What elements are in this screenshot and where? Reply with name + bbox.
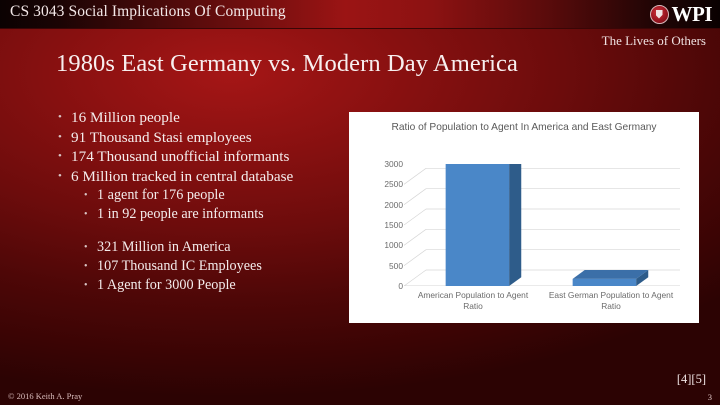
- slide-header-bar: CS 3043 Social Implications Of Computing…: [0, 0, 720, 29]
- wpi-logo: WPI: [650, 2, 713, 26]
- chart-bars: [404, 164, 680, 286]
- copyright-notice: © 2016 Keith A. Pray: [8, 391, 82, 401]
- list-item-label: 1 in 92 people are informants: [97, 205, 343, 224]
- y-axis-tick-label: 2000: [384, 200, 403, 210]
- slide-subtitle: The Lives of Others: [602, 33, 706, 49]
- list-spacer: [58, 224, 343, 238]
- bullet-list: • 16 Million people • 91 Thousand Stasi …: [58, 108, 343, 295]
- bullet-dot-icon: •: [58, 147, 71, 167]
- list-item: • 6 Million tracked in central database: [58, 167, 343, 187]
- chart-plot-area: [404, 164, 680, 286]
- wpi-logo-text: WPI: [672, 4, 713, 25]
- chart-panel: Ratio of Population to Agent In America …: [349, 112, 699, 323]
- list-item-label: 321 Million in America: [97, 238, 343, 257]
- bullet-dot-icon: •: [58, 128, 71, 148]
- list-item-label: 91 Thousand Stasi employees: [71, 128, 343, 148]
- list-item: • 321 Million in America: [58, 238, 343, 257]
- list-item: • 1 Agent for 3000 People: [58, 276, 343, 295]
- wpi-seal-icon: [650, 5, 669, 24]
- list-item-label: 1 Agent for 3000 People: [97, 276, 343, 295]
- bullet-dot-icon: •: [58, 167, 71, 187]
- y-axis-tick-label: 3000: [384, 159, 403, 169]
- bullet-dot-icon: •: [84, 238, 97, 257]
- list-item: • 1 agent for 176 people: [58, 186, 343, 205]
- list-item: • 16 Million people: [58, 108, 343, 128]
- chart-title: Ratio of Population to Agent In America …: [377, 121, 671, 135]
- page-title: 1980s East Germany vs. Modern Day Americ…: [56, 50, 518, 78]
- list-item-label: 1 agent for 176 people: [97, 186, 343, 205]
- x-axis-label: East German Population to Agent Ratio: [542, 290, 680, 312]
- bullet-dot-icon: •: [84, 276, 97, 295]
- bullet-dot-icon: •: [84, 205, 97, 224]
- presentation-slide: CS 3043 Social Implications Of Computing…: [0, 0, 720, 405]
- course-title: CS 3043 Social Implications Of Computing: [10, 3, 286, 21]
- chart-y-axis: 050010001500200025003000: [363, 164, 403, 286]
- list-item-label: 174 Thousand unofficial informants: [71, 147, 343, 167]
- list-item: • 1 in 92 people are informants: [58, 205, 343, 224]
- list-item: • 174 Thousand unofficial informants: [58, 147, 343, 167]
- y-axis-tick-label: 1500: [384, 220, 403, 230]
- slide-number: 3: [708, 392, 712, 402]
- y-axis-tick-label: 500: [389, 261, 403, 271]
- y-axis-tick-label: 1000: [384, 240, 403, 250]
- list-item: • 91 Thousand Stasi employees: [58, 128, 343, 148]
- bullet-dot-icon: •: [84, 186, 97, 205]
- list-item-label: 6 Million tracked in central database: [71, 167, 343, 187]
- reference-citations: [4][5]: [677, 372, 706, 387]
- x-axis-label: American Population to Agent Ratio: [404, 290, 542, 312]
- list-item-label: 16 Million people: [71, 108, 343, 128]
- list-item-label: 107 Thousand IC Employees: [97, 257, 343, 276]
- y-axis-tick-label: 0: [398, 281, 403, 291]
- y-axis-tick-label: 2500: [384, 179, 403, 189]
- list-item: • 107 Thousand IC Employees: [58, 257, 343, 276]
- chart-x-axis: American Population to Agent Ratio East …: [404, 290, 680, 312]
- bullet-dot-icon: •: [84, 257, 97, 276]
- bullet-dot-icon: •: [58, 108, 71, 128]
